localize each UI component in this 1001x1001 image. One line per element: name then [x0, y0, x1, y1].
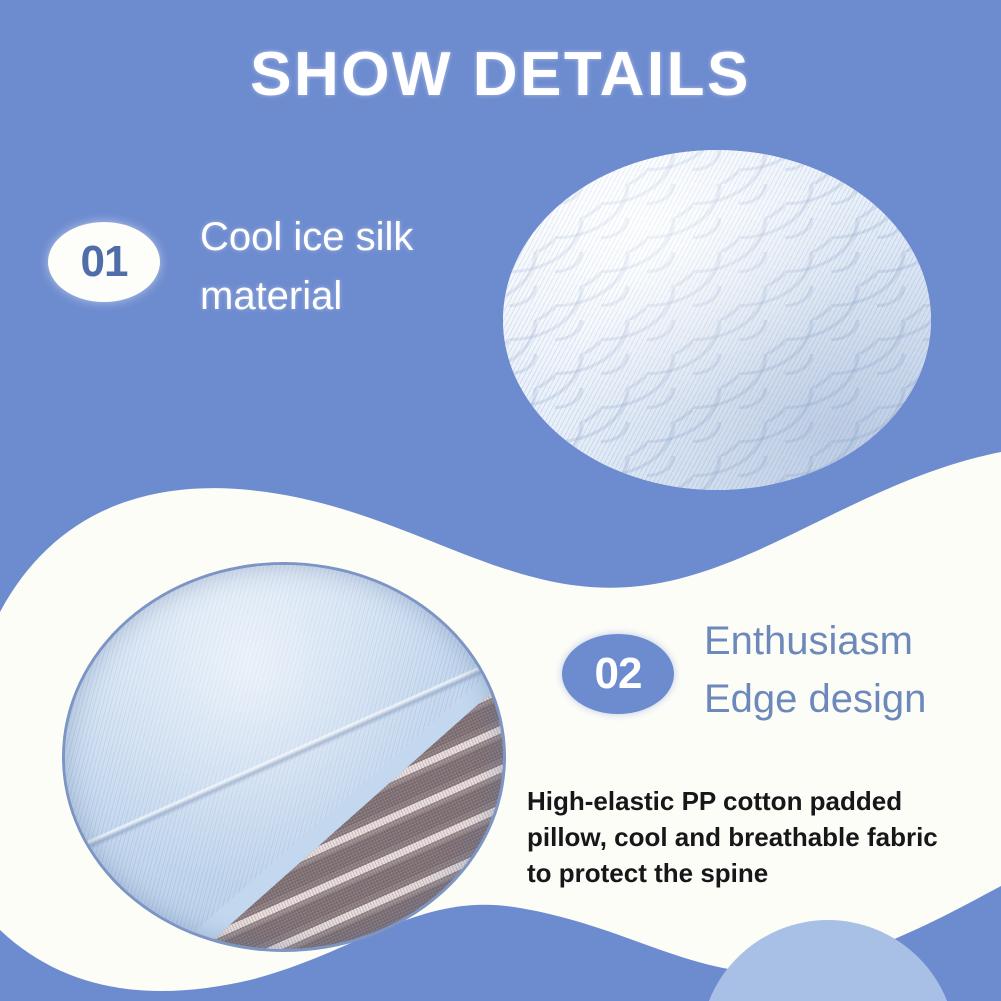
quilted-ice-silk-fabric-photo — [503, 150, 931, 490]
feature-heading-01: Cool ice silk material — [200, 208, 530, 326]
page-title: SHOW DETAILS — [0, 44, 1001, 106]
edge-design-fabric-photo — [62, 562, 506, 952]
feature-number-badge-02: 02 — [562, 634, 674, 714]
feature-heading-02: Enthusiasm Edge design — [704, 612, 1001, 728]
feature-body-02: High-elastic PP cotton padded pillow, co… — [527, 784, 947, 892]
show-details-infographic: SHOW DETAILS 01 Cool ice silk material 0… — [0, 0, 1001, 1001]
quilt-shading — [503, 150, 931, 490]
feature-number-badge-01: 01 — [48, 222, 160, 302]
photo-vignette — [65, 565, 503, 949]
